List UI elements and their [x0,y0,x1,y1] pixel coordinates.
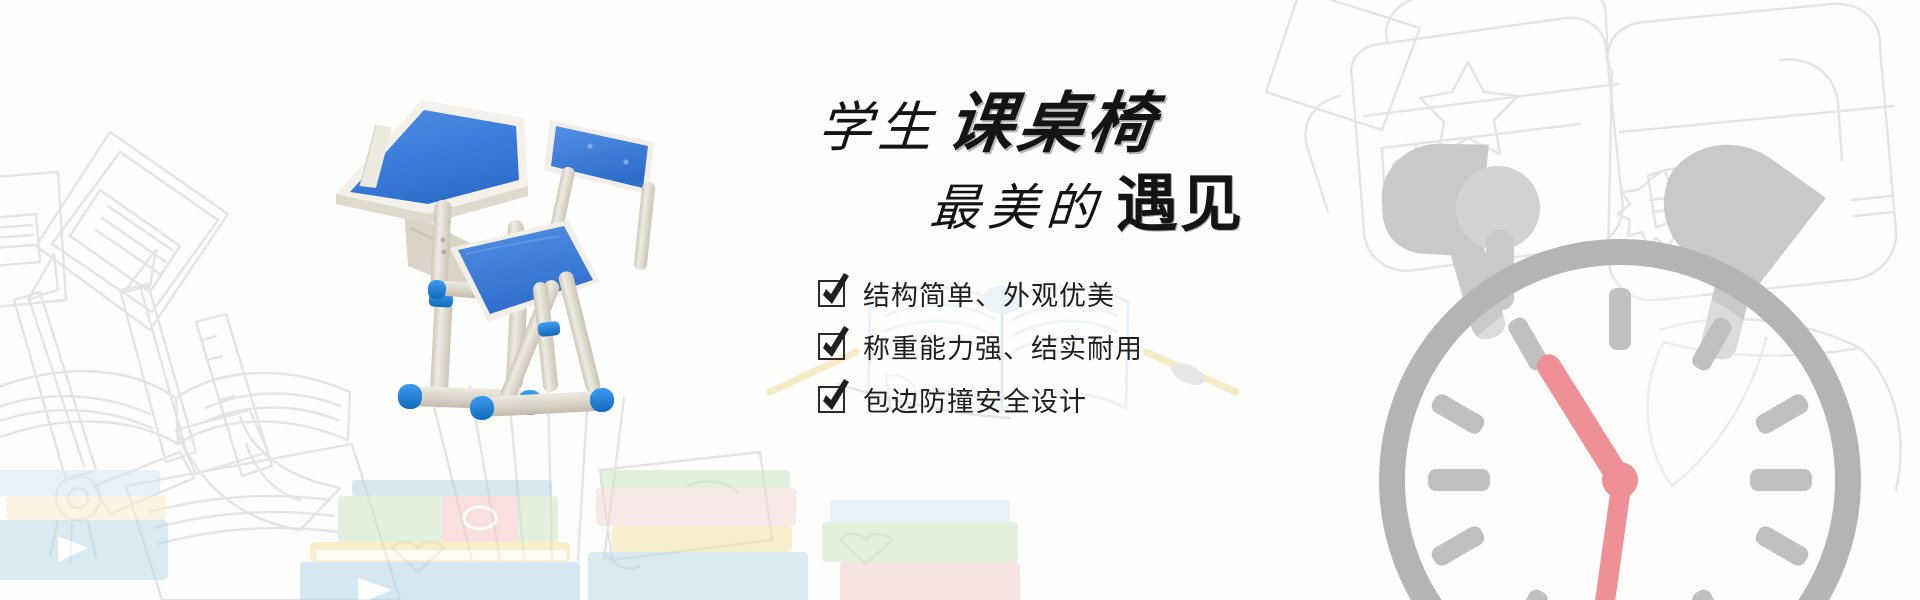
feature-item: 结构简单、外观优美 [818,274,1378,313]
headline-brush-part: 课桌椅 [944,92,1162,158]
headline-line-1: 学生 课桌椅 [818,92,1378,158]
headline-line-2: 最美的 遇见 [818,174,1378,236]
feature-label: 称重能力强、结实耐用 [863,327,1143,366]
headline-script-part: 学生 [816,101,940,155]
copy-block: 学生 课桌椅 最美的 遇见 结构简单、外观优美 [818,92,1378,419]
student-desk-and-chair-photo [300,70,800,470]
checkbox-checked-icon [818,333,845,360]
feature-item: 称重能力强、结实耐用 [818,327,1378,366]
feature-item: 包边防撞安全设计 [818,380,1378,419]
checkbox-checked-icon [818,386,845,413]
alarm-clock-illustration [1320,80,1920,600]
checkbox-checked-icon [818,280,845,307]
feature-label: 结构简单、外观优美 [863,274,1115,313]
subheadline-heavy-part: 遇见 [1116,174,1244,236]
subheadline-script-part: 最美的 [928,183,1105,233]
promo-banner: 学生 课桌椅 最美的 遇见 结构简单、外观优美 [0,0,1920,600]
feature-label: 包边防撞安全设计 [863,380,1087,419]
feature-list: 结构简单、外观优美 称重能力强、结实耐用 包边防撞安全设计 [818,274,1378,419]
